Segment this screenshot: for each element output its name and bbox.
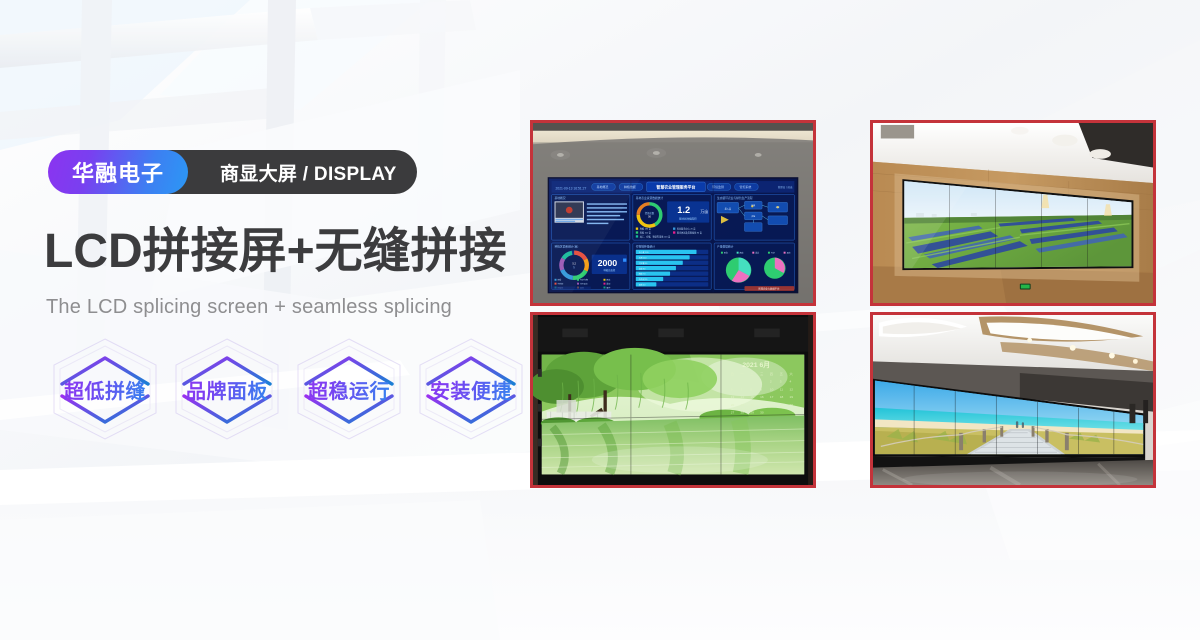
hero-text-column: 商显大屏 / DISPLAY 华融电子 LCD拼接屏+无缝拼接 The LCD … [0, 0, 520, 640]
feature-hexagon-2: 超稳运行 [290, 334, 408, 444]
svg-text:18: 18 [780, 395, 784, 399]
feature-hexagon-3: 安装便捷 [412, 334, 530, 444]
svg-text:管理员 | 退出: 管理员 | 退出 [778, 185, 793, 189]
svg-text:8: 8 [750, 387, 752, 391]
brand-pill-group: 商显大屏 / DISPLAY 华融电子 [48, 150, 188, 194]
svg-text:2: 2 [770, 380, 772, 384]
dashboard-video-wall-image: 2021-09-13 16:51:27 基地概况 种植数据 环境监测 管控系统 … [533, 123, 813, 303]
svg-text:26: 26 [790, 403, 794, 407]
feature-hexagon-label: 超稳运行 [290, 334, 408, 444]
feature-hexagon-label: 超低拼缝 [46, 334, 164, 444]
svg-text:基地农业资源数据统计: 基地农业资源数据统计 [636, 196, 664, 200]
svg-text:22: 22 [750, 403, 754, 407]
feature-hexagon-label: 品牌面板 [168, 334, 286, 444]
brand-pill: 华融电子 [48, 150, 188, 194]
feature-hexagon-1: 品牌面板 [168, 334, 286, 444]
svg-text:27: 27 [731, 411, 735, 415]
beach-boardwalk-video-wall-image [873, 315, 1153, 485]
svg-text:产量数据统计: 产量数据统计 [717, 244, 734, 248]
svg-text:智慧农业管理服务平台: 智慧农业管理服务平台 [655, 185, 695, 190]
svg-text:1.2: 1.2 [677, 205, 690, 215]
svg-text:二: 二 [750, 372, 753, 376]
svg-text:2021 6月: 2021 6月 [742, 361, 770, 369]
svg-text:基地总种植面积: 基地总种植面积 [679, 216, 697, 220]
svg-text:一: 一 [741, 372, 744, 376]
svg-text:17: 17 [770, 395, 774, 399]
solar-farm-video-wall-image [873, 123, 1153, 303]
svg-text:14: 14 [741, 395, 745, 399]
svg-text:20: 20 [731, 403, 735, 407]
svg-text:21: 21 [741, 403, 745, 407]
svg-text:13: 13 [731, 395, 735, 399]
svg-text:环境监测: 环境监测 [712, 184, 724, 189]
svg-text:五: 五 [780, 372, 783, 376]
svg-text:10: 10 [770, 387, 774, 391]
svg-text:24: 24 [770, 403, 774, 407]
svg-text:6: 6 [731, 387, 733, 391]
page-title: LCD拼接屏+无缝拼接 [44, 228, 507, 276]
svg-text:28: 28 [741, 411, 745, 415]
feature-hexagon-list: 超低拼缝 品牌面板 [46, 334, 530, 444]
svg-text:23: 23 [760, 403, 764, 407]
svg-text:29: 29 [750, 411, 754, 415]
page-subtitle: The LCD splicing screen + seamless splic… [46, 296, 452, 319]
svg-text:4: 4 [790, 380, 792, 384]
svg-text:六: 六 [790, 371, 793, 376]
svg-text:万亩: 万亩 [700, 209, 708, 214]
svg-text:7: 7 [741, 387, 743, 391]
garden-video-wall-image: 2021 6月 日一二 三四五六 1234 678 9101112 131415… [533, 315, 813, 485]
svg-text:12: 12 [790, 387, 794, 391]
svg-text:30: 30 [760, 411, 764, 415]
svg-text:15: 15 [750, 395, 754, 399]
svg-text:16: 16 [760, 395, 764, 399]
gallery-photo-solar-farm[interactable] [870, 120, 1156, 306]
svg-text:生态循环农业与绿色生产流程: 生态循环农业与绿色生产流程 [717, 196, 753, 200]
svg-text:作物播种量统计: 作物播种量统计 [636, 244, 655, 248]
svg-text:19: 19 [790, 395, 794, 399]
svg-text:日: 日 [731, 372, 734, 376]
svg-text:管控系统: 管控系统 [740, 184, 752, 189]
svg-text:9: 9 [760, 387, 762, 391]
feature-hexagon-label: 安装便捷 [412, 334, 530, 444]
svg-text:1: 1 [760, 380, 762, 384]
svg-text:11: 11 [780, 387, 784, 391]
feature-hexagon-0: 超低拼缝 [46, 334, 164, 444]
gallery-photo-garden[interactable]: 2021 6月 日一二 三四五六 1234 678 9101112 131415… [530, 312, 816, 488]
svg-text:四: 四 [770, 372, 773, 376]
gallery-photo-beach-boardwalk[interactable] [870, 312, 1156, 488]
svg-text:三: 三 [760, 372, 763, 376]
svg-text:2000: 2000 [598, 258, 618, 268]
gallery-photo-dashboard[interactable]: 2021-09-13 16:51:27 基地概况 种植数据 环境监测 管控系统 … [530, 120, 816, 306]
svg-text:25: 25 [780, 403, 784, 407]
category-pill: 商显大屏 / DISPLAY [148, 150, 417, 194]
svg-text:3: 3 [780, 380, 782, 384]
